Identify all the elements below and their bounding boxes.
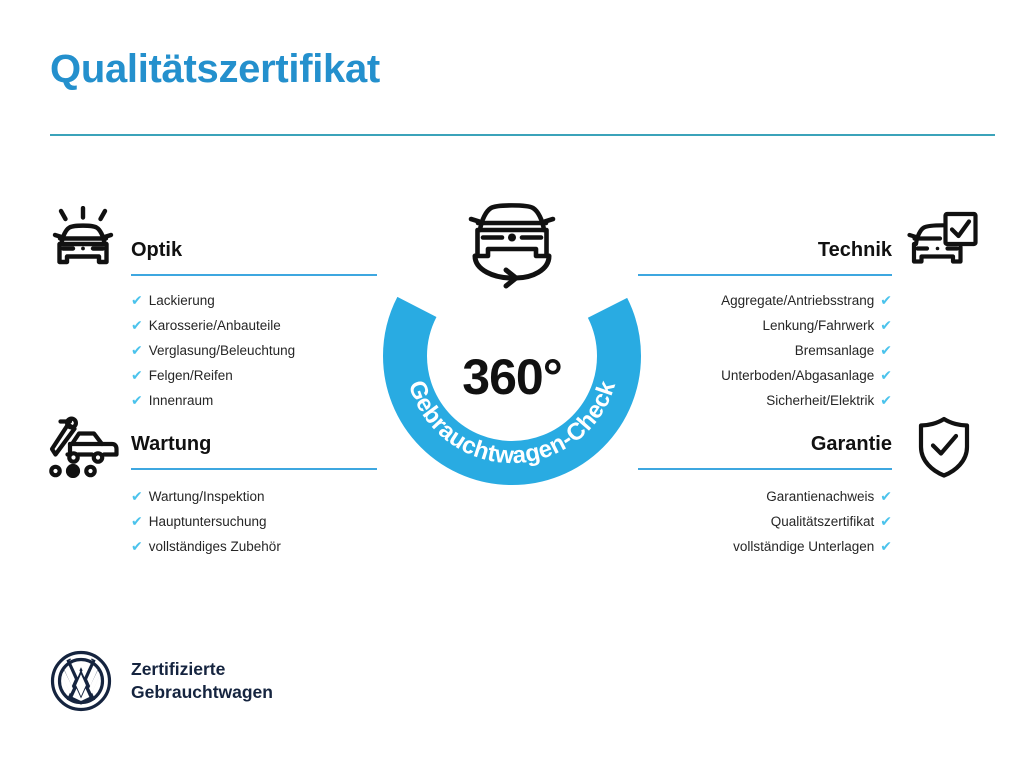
list-item-label: vollständige Unterlagen xyxy=(733,534,874,559)
section-divider xyxy=(131,274,377,276)
list-item-label: Felgen/Reifen xyxy=(149,363,233,388)
check-icon: ✔ xyxy=(131,484,143,509)
check-icon: ✔ xyxy=(131,534,143,559)
list-item: ✔ Verglasung/Beleuchtung xyxy=(131,338,377,363)
list-item-label: Innenraum xyxy=(149,388,214,413)
section-header: Optik xyxy=(131,236,377,282)
section-title: Technik xyxy=(638,236,892,264)
car-shine-icon xyxy=(47,206,119,281)
list-item: ✔ Wartung/Inspektion xyxy=(131,484,377,509)
list-item: ✔ Hauptuntersuchung xyxy=(131,509,377,534)
list-item-label: Karosserie/Anbauteile xyxy=(149,313,281,338)
list-item: Unterboden/Abgasanlage ✔ xyxy=(638,363,892,388)
car-checkbox-icon xyxy=(907,211,979,276)
section-optik: Optik ✔ Lackierung ✔ Karosserie/Anbautei… xyxy=(131,236,377,413)
section-title: Wartung xyxy=(131,430,377,458)
list-item-label: Garantienachweis xyxy=(766,484,874,509)
check-icon: ✔ xyxy=(880,388,892,413)
section-title: Garantie xyxy=(638,430,892,458)
list-item: ✔ Innenraum xyxy=(131,388,377,413)
section-header: Wartung xyxy=(131,430,377,476)
check-icon: ✔ xyxy=(880,534,892,559)
page-title: Qualitätszertifikat xyxy=(50,47,380,91)
car-rotate-360-icon xyxy=(446,196,578,292)
list-item-label: Lenkung/Fahrwerk xyxy=(762,313,874,338)
check-icon: ✔ xyxy=(880,509,892,534)
check-icon: ✔ xyxy=(880,363,892,388)
section-garantie: Garantie Garantienachweis ✔ Qualitätszer… xyxy=(638,430,892,559)
checklist: ✔ Wartung/Inspektion ✔ Hauptuntersuchung… xyxy=(131,484,377,559)
list-item: ✔ Karosserie/Anbauteile xyxy=(131,313,377,338)
list-item: Bremsanlage ✔ xyxy=(638,338,892,363)
list-item: ✔ vollständiges Zubehör xyxy=(131,534,377,559)
list-item: ✔ Felgen/Reifen xyxy=(131,363,377,388)
list-item-label: vollständiges Zubehör xyxy=(149,534,281,559)
list-item: Sicherheit/Elektrik ✔ xyxy=(638,388,892,413)
footer-logo-text: Zertifizierte Gebrauchtwagen xyxy=(131,658,273,704)
section-divider xyxy=(638,468,892,470)
list-item-label: Hauptuntersuchung xyxy=(149,509,267,534)
footer-logo: Zertifizierte Gebrauchtwagen xyxy=(50,650,273,712)
check-icon: ✔ xyxy=(131,313,143,338)
footer-line-1: Zertifizierte xyxy=(131,658,273,681)
footer-line-2: Gebrauchtwagen xyxy=(131,681,273,704)
section-header: Garantie xyxy=(638,430,892,476)
list-item: ✔ Lackierung xyxy=(131,288,377,313)
check-icon: ✔ xyxy=(880,288,892,313)
check-icon: ✔ xyxy=(880,338,892,363)
car-dipstick-oil-icon xyxy=(46,416,120,483)
section-title: Optik xyxy=(131,236,377,264)
list-item-label: Qualitätszertifikat xyxy=(771,509,875,534)
section-technik: Technik Aggregate/Antriebsstrang ✔ Lenku… xyxy=(638,236,892,413)
list-item-label: Aggregate/Antriebsstrang xyxy=(721,288,874,313)
list-item-label: Sicherheit/Elektrik xyxy=(766,388,874,413)
360-check-badge: Gebrauchtwagen-Check 360° xyxy=(383,196,641,486)
list-item-label: Unterboden/Abgasanlage xyxy=(721,363,874,388)
checklist: ✔ Lackierung ✔ Karosserie/Anbauteile ✔ V… xyxy=(131,288,377,413)
vw-logo-icon xyxy=(50,650,112,712)
list-item: vollständige Unterlagen ✔ xyxy=(638,534,892,559)
checklist: Aggregate/Antriebsstrang ✔ Lenkung/Fahrw… xyxy=(638,288,892,413)
checklist: Garantienachweis ✔ Qualitätszertifikat ✔… xyxy=(638,484,892,559)
check-icon: ✔ xyxy=(131,338,143,363)
list-item-label: Bremsanlage xyxy=(795,338,875,363)
shield-check-icon xyxy=(917,416,971,483)
list-item: Aggregate/Antriebsstrang ✔ xyxy=(638,288,892,313)
list-item: Qualitätszertifikat ✔ xyxy=(638,509,892,534)
check-icon: ✔ xyxy=(131,388,143,413)
check-icon: ✔ xyxy=(131,288,143,313)
check-icon: ✔ xyxy=(880,484,892,509)
check-icon: ✔ xyxy=(131,509,143,534)
section-header: Technik xyxy=(638,236,892,282)
list-item-label: Lackierung xyxy=(149,288,215,313)
section-wartung: Wartung ✔ Wartung/Inspektion ✔ Hauptunte… xyxy=(131,430,377,559)
check-icon: ✔ xyxy=(131,363,143,388)
list-item: Garantienachweis ✔ xyxy=(638,484,892,509)
list-item-label: Wartung/Inspektion xyxy=(149,484,265,509)
title-divider xyxy=(50,134,995,136)
certificate-page: Qualitätszertifikat xyxy=(0,0,1024,768)
check-icon: ✔ xyxy=(880,313,892,338)
section-divider xyxy=(131,468,377,470)
section-divider xyxy=(638,274,892,276)
list-item-label: Verglasung/Beleuchtung xyxy=(149,338,295,363)
list-item: Lenkung/Fahrwerk ✔ xyxy=(638,313,892,338)
